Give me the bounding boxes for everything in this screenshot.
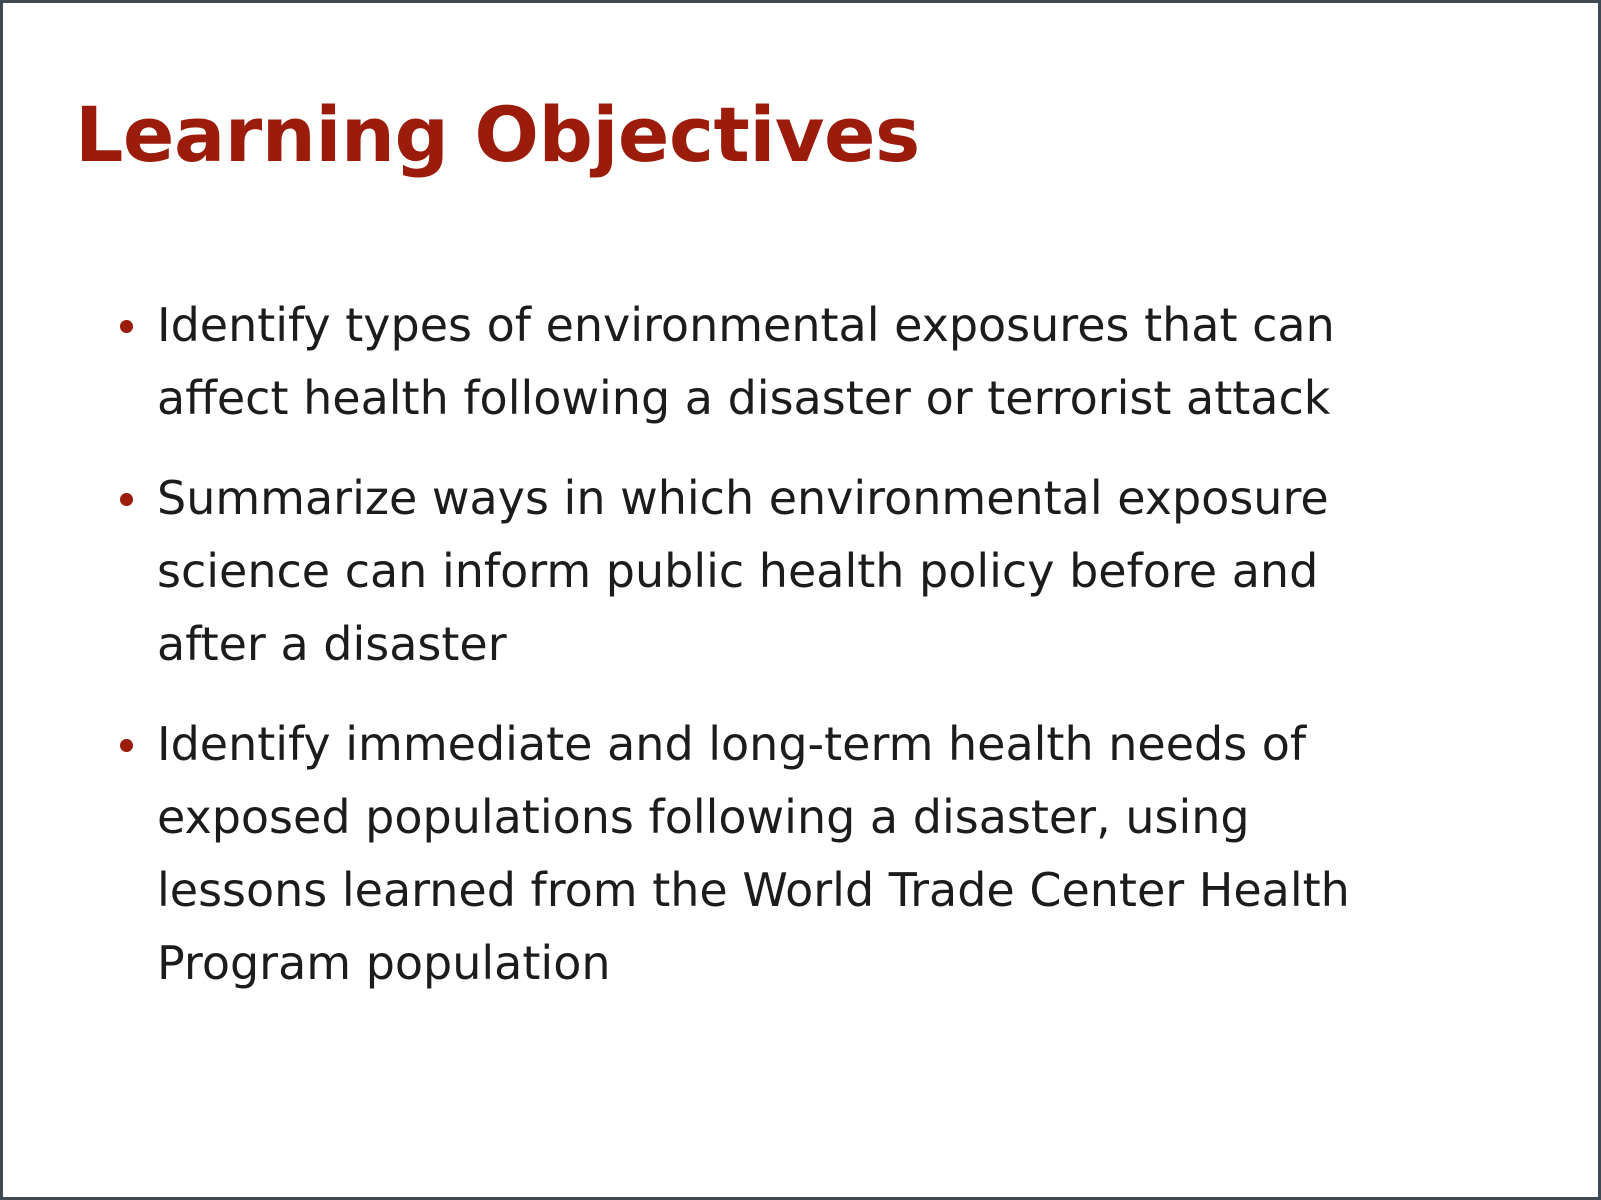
round-bullet-icon: [120, 320, 133, 333]
page-title: Learning Objectives: [75, 94, 920, 176]
list-item: Summarize ways in which environmental ex…: [113, 462, 1413, 681]
list-item: Identify types of environmental exposure…: [113, 289, 1413, 435]
presentation-slide: Learning Objectives Identify types of en…: [0, 0, 1601, 1200]
round-bullet-icon: [120, 739, 133, 752]
round-bullet-icon: [120, 493, 133, 506]
learning-objectives-list: Identify types of environmental exposure…: [113, 289, 1413, 1000]
list-item: Identify immediate and long-term health …: [113, 708, 1413, 1000]
objective-text: Identify immediate and long-term health …: [157, 708, 1413, 1000]
objective-text: Identify types of environmental exposure…: [157, 289, 1413, 435]
objective-text: Summarize ways in which environmental ex…: [157, 462, 1413, 681]
